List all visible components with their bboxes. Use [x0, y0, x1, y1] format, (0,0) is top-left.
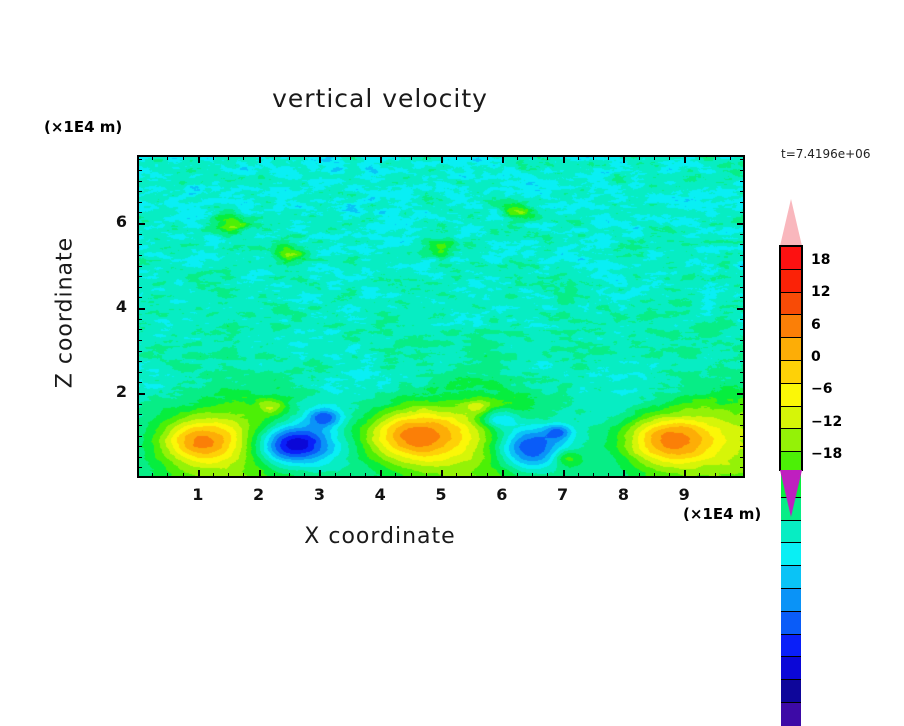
axis-tick [198, 470, 200, 478]
axis-tick [547, 473, 548, 478]
axis-tick [608, 155, 609, 160]
axis-tick [740, 372, 745, 373]
axis-tick [517, 473, 518, 478]
axis-tick [228, 473, 229, 478]
axis-tick [319, 470, 321, 478]
axis-tick [137, 414, 142, 415]
axis-tick [740, 212, 745, 213]
axis-tick [740, 159, 745, 160]
axis-tick [365, 155, 366, 160]
velocity-field-canvas [139, 157, 743, 476]
axis-tick [304, 155, 305, 160]
axis-tick [380, 155, 382, 163]
axis-tick [137, 191, 142, 192]
axis-tick [137, 297, 142, 298]
colorbar [779, 199, 805, 517]
axis-tick [593, 155, 594, 160]
axis-tick [623, 470, 625, 478]
axis-tick [183, 155, 184, 160]
colorbar-band [781, 429, 801, 452]
axis-tick [411, 473, 412, 478]
colorbar-band [781, 270, 801, 293]
axis-tick [456, 155, 457, 160]
axis-tick [137, 393, 145, 395]
axis-tick [137, 351, 142, 352]
axis-tick [740, 266, 745, 267]
axis-tick [487, 155, 488, 160]
axis-tick [740, 467, 745, 468]
axis-tick [411, 155, 412, 160]
colorbar-band [781, 293, 801, 316]
axis-tick [740, 234, 745, 235]
x-tick-label: 6 [482, 485, 522, 504]
colorbar-tick-label: −12 [811, 414, 842, 430]
axis-tick [441, 155, 443, 163]
colorbar-tick-label: 6 [811, 317, 821, 333]
colorbar-band [781, 612, 801, 635]
axis-tick [350, 155, 351, 160]
colorbar-tick-label: 12 [811, 284, 830, 300]
axis-tick [740, 202, 745, 203]
axis-tick [547, 155, 548, 160]
axis-tick [471, 473, 472, 478]
axis-tick [137, 457, 142, 458]
axis-tick [563, 155, 565, 163]
colorbar-tick-label: 18 [811, 252, 830, 268]
y-axis-unit-label: (×1E4 m) [44, 118, 122, 136]
axis-tick [639, 473, 640, 478]
axis-tick [137, 382, 142, 383]
x-tick-label: 5 [421, 485, 461, 504]
axis-tick [740, 329, 745, 330]
axis-tick [137, 212, 142, 213]
time-annotation: t=7.4196e+06 [781, 147, 870, 161]
axis-tick [563, 470, 565, 478]
axis-tick [152, 155, 153, 160]
axis-tick [578, 155, 579, 160]
axis-tick [319, 155, 321, 163]
axis-tick [740, 446, 745, 447]
axis-tick [259, 470, 261, 478]
x-tick-label: 9 [664, 485, 704, 504]
x-tick-label: 2 [239, 485, 279, 504]
axis-tick [593, 473, 594, 478]
axis-tick [137, 287, 142, 288]
axis-tick [730, 155, 731, 160]
axis-tick [684, 155, 686, 163]
axis-tick [137, 425, 142, 426]
axis-tick [137, 202, 142, 203]
axis-tick [243, 155, 244, 160]
axis-tick [137, 372, 142, 373]
axis-tick [471, 155, 472, 160]
colorbar-band [781, 680, 801, 703]
axis-tick [740, 351, 745, 352]
axis-tick [740, 340, 745, 341]
colorbar-band [781, 589, 801, 612]
axis-tick [395, 473, 396, 478]
axis-tick [532, 155, 533, 160]
axis-tick [737, 308, 745, 310]
colorbar-under-arrow [780, 470, 802, 517]
x-axis-unit-label: (×1E4 m) [683, 505, 761, 523]
x-axis-title: X coordinate [0, 524, 760, 549]
axis-tick [699, 473, 700, 478]
colorbar-band [781, 703, 801, 726]
axis-tick [669, 473, 670, 478]
colorbar-band [781, 543, 801, 566]
axis-tick [213, 473, 214, 478]
axis-tick [740, 414, 745, 415]
axis-tick [395, 155, 396, 160]
colorbar-tick-label: 0 [811, 349, 821, 365]
axis-tick [740, 382, 745, 383]
axis-tick [213, 155, 214, 160]
axis-tick [228, 155, 229, 160]
axis-tick [502, 155, 504, 163]
axis-tick [740, 297, 745, 298]
axis-tick [167, 155, 168, 160]
axis-tick [740, 244, 745, 245]
x-tick-label: 3 [299, 485, 339, 504]
x-tick-label: 1 [178, 485, 218, 504]
colorbar-band [781, 566, 801, 589]
axis-tick [740, 276, 745, 277]
axis-tick [350, 473, 351, 478]
axis-tick [152, 473, 153, 478]
y-tick-label: 4 [97, 297, 127, 316]
axis-tick [608, 473, 609, 478]
colorbar-tick-label: −18 [811, 446, 842, 462]
contour-plot-area [137, 155, 745, 478]
axis-tick [335, 155, 336, 160]
axis-tick [289, 473, 290, 478]
axis-tick [274, 155, 275, 160]
axis-tick [654, 473, 655, 478]
axis-tick [289, 155, 290, 160]
axis-tick [137, 223, 145, 225]
axis-tick [137, 319, 142, 320]
axis-tick [740, 425, 745, 426]
y-axis-title: Z coordinate [53, 223, 78, 403]
axis-tick [654, 155, 655, 160]
axis-tick [167, 473, 168, 478]
colorbar-band [781, 521, 801, 544]
axis-tick [487, 473, 488, 478]
axis-tick [740, 191, 745, 192]
colorbar-over-arrow [780, 199, 802, 246]
axis-tick [715, 473, 716, 478]
axis-tick [623, 155, 625, 163]
colorbar-band [781, 315, 801, 338]
colorbar-band [781, 338, 801, 361]
axis-tick [740, 457, 745, 458]
axis-tick [730, 473, 731, 478]
axis-tick [380, 470, 382, 478]
axis-tick [137, 308, 145, 310]
axis-tick [137, 276, 142, 277]
axis-tick [669, 155, 670, 160]
axis-tick [737, 223, 745, 225]
axis-tick [137, 234, 142, 235]
axis-tick [137, 446, 142, 447]
axis-tick [639, 155, 640, 160]
axis-tick [137, 329, 142, 330]
axis-tick [137, 255, 142, 256]
colorbar-bands [779, 245, 803, 471]
axis-tick [183, 473, 184, 478]
axis-tick [198, 155, 200, 163]
colorbar-band [781, 384, 801, 407]
y-tick-label: 2 [97, 382, 127, 401]
axis-tick [259, 155, 261, 163]
axis-tick [740, 170, 745, 171]
axis-tick [502, 470, 504, 478]
axis-tick [137, 436, 142, 437]
axis-tick [137, 244, 142, 245]
axis-tick [137, 159, 142, 160]
chart-title: vertical velocity [0, 84, 760, 113]
axis-tick [426, 155, 427, 160]
axis-tick [699, 155, 700, 160]
x-tick-label: 4 [360, 485, 400, 504]
axis-tick [578, 473, 579, 478]
axis-tick [335, 473, 336, 478]
axis-tick [715, 155, 716, 160]
axis-tick [137, 170, 142, 171]
axis-tick [137, 404, 142, 405]
colorbar-band [781, 657, 801, 680]
axis-tick [684, 470, 686, 478]
colorbar-tick-label: −6 [811, 381, 832, 397]
axis-tick [426, 473, 427, 478]
axis-tick [737, 393, 745, 395]
axis-tick [532, 473, 533, 478]
axis-tick [137, 181, 142, 182]
axis-tick [137, 467, 142, 468]
axis-tick [740, 436, 745, 437]
axis-tick [740, 361, 745, 362]
axis-tick [137, 340, 142, 341]
colorbar-band [781, 361, 801, 384]
axis-tick [740, 319, 745, 320]
axis-tick [243, 473, 244, 478]
axis-tick [137, 361, 142, 362]
y-tick-label: 6 [97, 212, 127, 231]
x-tick-label: 8 [603, 485, 643, 504]
axis-tick [274, 473, 275, 478]
x-tick-label: 7 [543, 485, 583, 504]
axis-tick [304, 473, 305, 478]
axis-tick [456, 473, 457, 478]
colorbar-band [781, 407, 801, 430]
axis-tick [441, 470, 443, 478]
axis-tick [740, 404, 745, 405]
axis-tick [740, 287, 745, 288]
axis-tick [365, 473, 366, 478]
colorbar-band [781, 247, 801, 270]
axis-tick [517, 155, 518, 160]
axis-tick [137, 266, 142, 267]
axis-tick [740, 181, 745, 182]
axis-tick [740, 255, 745, 256]
